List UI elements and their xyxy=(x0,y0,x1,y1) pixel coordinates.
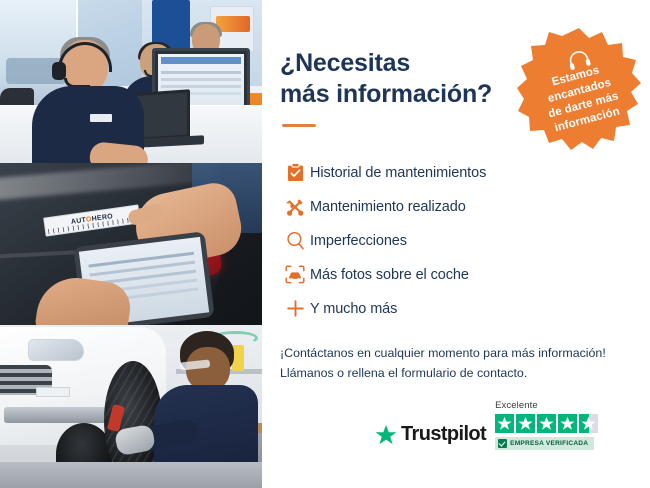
content-panel: ¿Necesitas más información? Estamos enca… xyxy=(262,0,650,488)
contact-info-banner: AUTOHERO xyxy=(0,0,650,488)
trustpilot-logo[interactable]: Trustpilot xyxy=(375,423,486,450)
contact-paragraph: ¡Contáctanos en cualquier momento para m… xyxy=(280,343,628,383)
contact-line-2: Llámanos o rellena el formulario de cont… xyxy=(280,363,628,383)
car-number-plate xyxy=(36,387,70,397)
contact-line-1: ¡Contáctanos en cualquier momento para m… xyxy=(280,343,628,363)
feature-label: Imperfecciones xyxy=(310,233,407,249)
workshop-floor xyxy=(0,462,262,488)
car-frame-icon xyxy=(280,265,310,284)
star-2 xyxy=(516,414,535,433)
feature-item-mucho-mas: Y mucho más xyxy=(280,292,628,325)
feature-label: Y mucho más xyxy=(310,301,397,317)
star-5-half xyxy=(579,414,598,433)
star-rating xyxy=(495,414,598,433)
title-underline-rule xyxy=(282,124,316,127)
headline-line-2: más información? xyxy=(280,80,492,108)
trustpilot-wordmark: Trustpilot xyxy=(401,423,486,446)
magnifier-icon xyxy=(280,231,310,250)
feature-label: Mantenimiento realizado xyxy=(310,199,466,215)
feature-label: Historial de mantenimientos xyxy=(310,165,486,181)
verified-check-icon xyxy=(498,439,507,448)
photo-column: AUTOHERO xyxy=(0,0,262,488)
clipboard-check-icon xyxy=(280,163,310,182)
star-4 xyxy=(558,414,577,433)
verified-company-badge: EMPRESA VERIFICADA xyxy=(495,437,594,450)
tools-cross-icon xyxy=(280,197,310,217)
mechanic-inspecting-wheel-photo xyxy=(0,325,262,488)
trustpilot-rating: Excelente xyxy=(495,400,598,450)
car-headlight xyxy=(28,339,84,361)
feature-label: Más fotos sobre el coche xyxy=(310,267,469,283)
plus-icon xyxy=(280,299,310,318)
feature-item-mantenimiento: Mantenimiento realizado xyxy=(280,190,628,223)
inspector-measuring-car-autohero-ruler-photo: AUTOHERO xyxy=(0,163,262,325)
feature-item-imperfecciones: Imperfecciones xyxy=(280,224,628,257)
star-3 xyxy=(537,414,556,433)
trustpilot-widget[interactable]: Trustpilot Excelente xyxy=(375,400,598,450)
rating-label: Excelente xyxy=(495,400,538,411)
headline-line-1: ¿Necesitas xyxy=(280,49,410,77)
call-center-agents-headset-photo xyxy=(0,0,262,163)
agent-main-headset xyxy=(28,40,146,163)
star-1 xyxy=(495,414,514,433)
page-title: ¿Necesitas más información? xyxy=(280,48,495,109)
feature-list: Historial de mantenimientos M xyxy=(280,156,628,325)
verified-label: EMPRESA VERIFICADA xyxy=(510,440,588,447)
feature-item-historial: Historial de mantenimientos xyxy=(280,156,628,189)
trustpilot-star-icon xyxy=(375,424,397,446)
feature-item-fotos: Más fotos sobre el coche xyxy=(280,258,628,291)
promo-starburst-badge: Estamos encantados de darte más informac… xyxy=(517,27,641,151)
